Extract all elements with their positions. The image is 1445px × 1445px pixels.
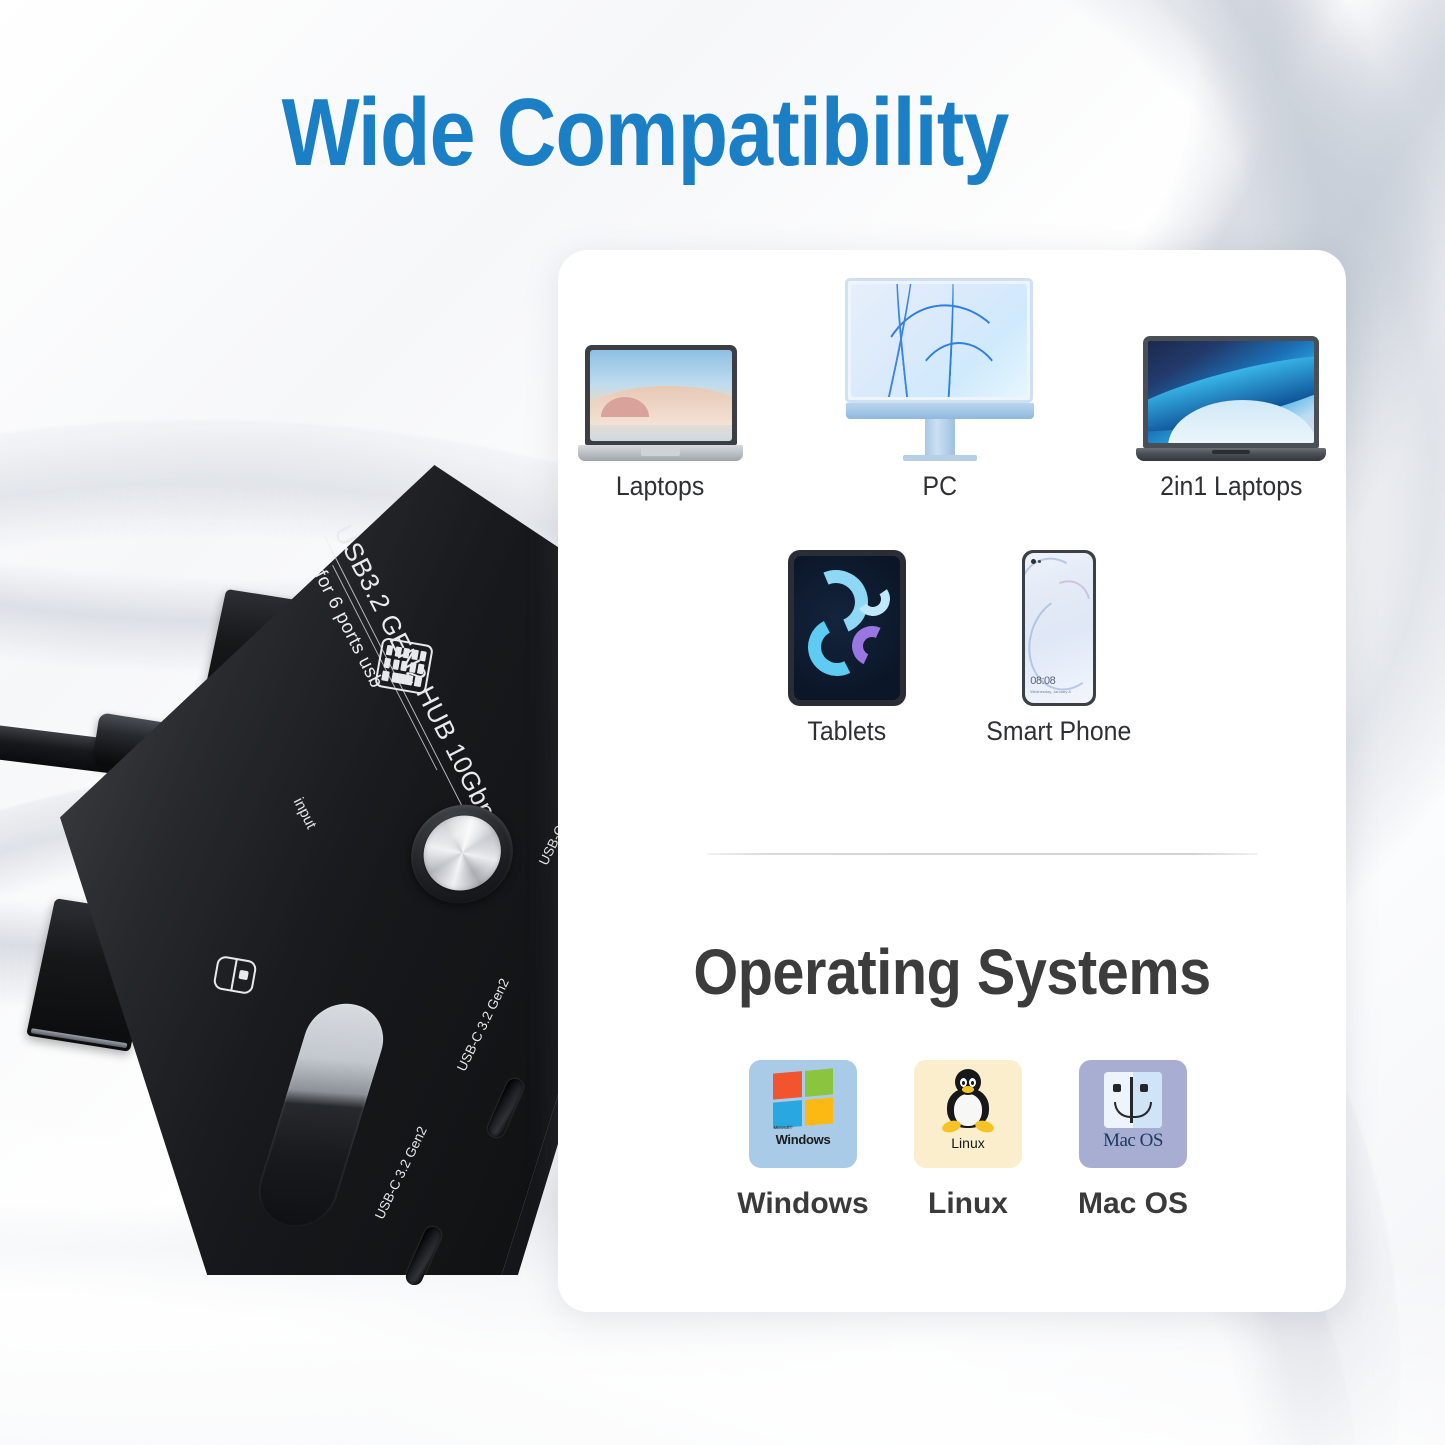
macos-tile-text: Mac OS xyxy=(1103,1130,1163,1152)
os-label: Mac OS xyxy=(1078,1187,1188,1221)
linux-tile-text: Linux xyxy=(951,1135,984,1151)
device-label: Smart Phone xyxy=(987,716,1132,747)
compatibility-card: Laptops PC xyxy=(558,250,1346,1312)
device-2in1-laptops: 2in1 Laptops xyxy=(1136,336,1326,502)
tablet-icon xyxy=(788,550,906,706)
device-label: Laptops xyxy=(616,471,704,502)
page-title: Wide Compatibility xyxy=(90,85,1199,181)
device-row-1: Laptops PC xyxy=(578,278,1326,502)
device-label: Tablets xyxy=(808,716,887,747)
keyboard-icon xyxy=(374,637,434,695)
device-label: PC xyxy=(922,471,957,502)
phone-lockscreen-time: 08:08 xyxy=(1030,675,1055,687)
windows-logo-icon: Microsoft® Windows xyxy=(749,1060,857,1168)
mouse-icon xyxy=(212,955,257,995)
surface-laptop-icon xyxy=(578,345,743,461)
section-divider xyxy=(707,853,1258,855)
os-label: Linux xyxy=(928,1187,1008,1221)
device-pc: PC xyxy=(845,278,1035,502)
os-label: Windows xyxy=(737,1187,868,1221)
smartphone-icon: 08:08 Wednesday, January 8 xyxy=(1022,550,1096,706)
device-label: 2in1 Laptops xyxy=(1160,471,1302,502)
os-linux: Linux Linux xyxy=(893,1060,1043,1221)
phone-lockscreen-date: Wednesday, January 8 xyxy=(1030,689,1071,694)
device-smart-phone: 08:08 Wednesday, January 8 Smart Phone xyxy=(980,550,1138,747)
os-section-heading: Operating Systems xyxy=(597,935,1306,1009)
os-macos: Mac OS Mac OS xyxy=(1058,1060,1208,1221)
os-row: Microsoft® Windows Windows Linux L xyxy=(728,1060,1208,1221)
imac-desktop-icon xyxy=(845,278,1035,461)
macbook-laptop-icon xyxy=(1136,336,1326,461)
device-tablets: Tablets xyxy=(788,550,906,747)
macos-finder-icon: Mac OS xyxy=(1079,1060,1187,1168)
os-windows: Microsoft® Windows Windows xyxy=(728,1060,878,1221)
device-row-2: Tablets 08:08 Wednesday, January 8 Smart… xyxy=(788,550,1138,747)
windows-tile-text: Windows xyxy=(776,1132,831,1147)
linux-tux-icon: Linux xyxy=(914,1060,1022,1168)
device-laptops: Laptops xyxy=(578,345,743,502)
windows-tile-superscript: Microsoft® xyxy=(774,1125,793,1130)
